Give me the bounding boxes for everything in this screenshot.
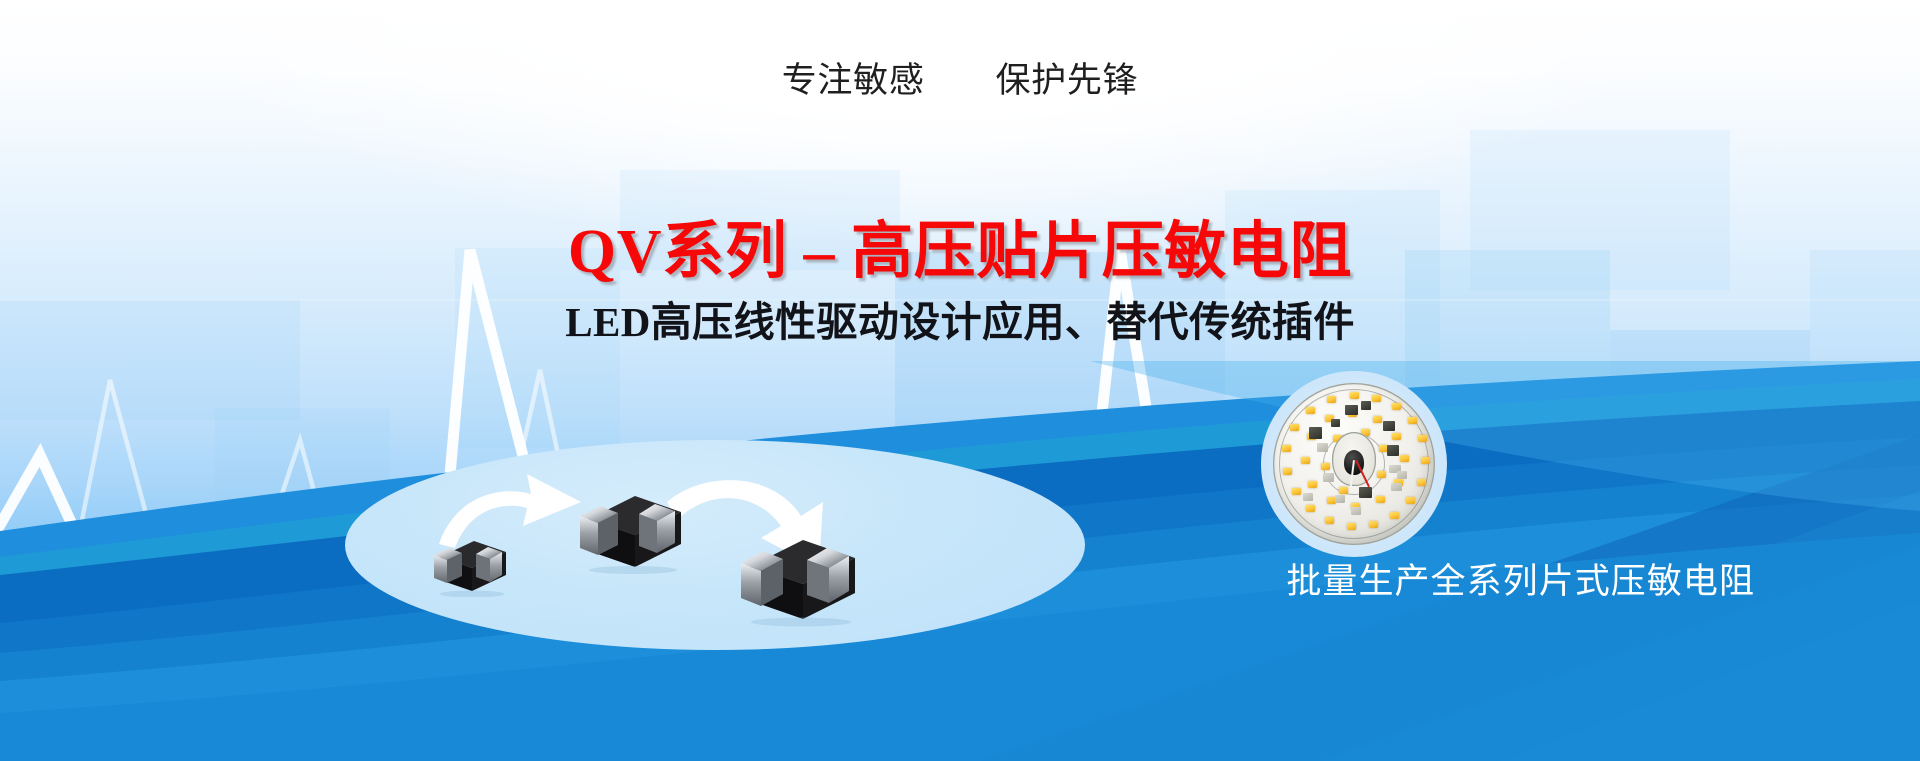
circular-led-pcb-module (1268, 378, 1440, 550)
led-center-lens (1332, 432, 1376, 486)
brand-tagline: 专注敏感 保护先锋 (0, 52, 1920, 103)
tagline-part-1: 专注敏感 (782, 61, 925, 100)
main-title: QV系列 – 高压贴片压敏电阻 (0, 200, 1920, 290)
footer-caption: 批量生产全系列片式压敏电阻 (1286, 553, 1755, 604)
tagline-part-2: 保护先锋 (995, 61, 1138, 100)
product-platform (345, 440, 1085, 650)
product-banner: 专注敏感 保护先锋 QV系列 – 高压贴片压敏电阻 LED高压线性驱动设计应用、… (0, 0, 1920, 761)
sub-title: LED高压线性驱动设计应用、替代传统插件 (0, 288, 1920, 348)
led-pcb-board (1273, 383, 1435, 545)
smd-varistor-chip-medium (575, 488, 687, 574)
smd-varistor-chip-large (735, 530, 861, 628)
smd-varistor-chip-small (430, 535, 510, 597)
